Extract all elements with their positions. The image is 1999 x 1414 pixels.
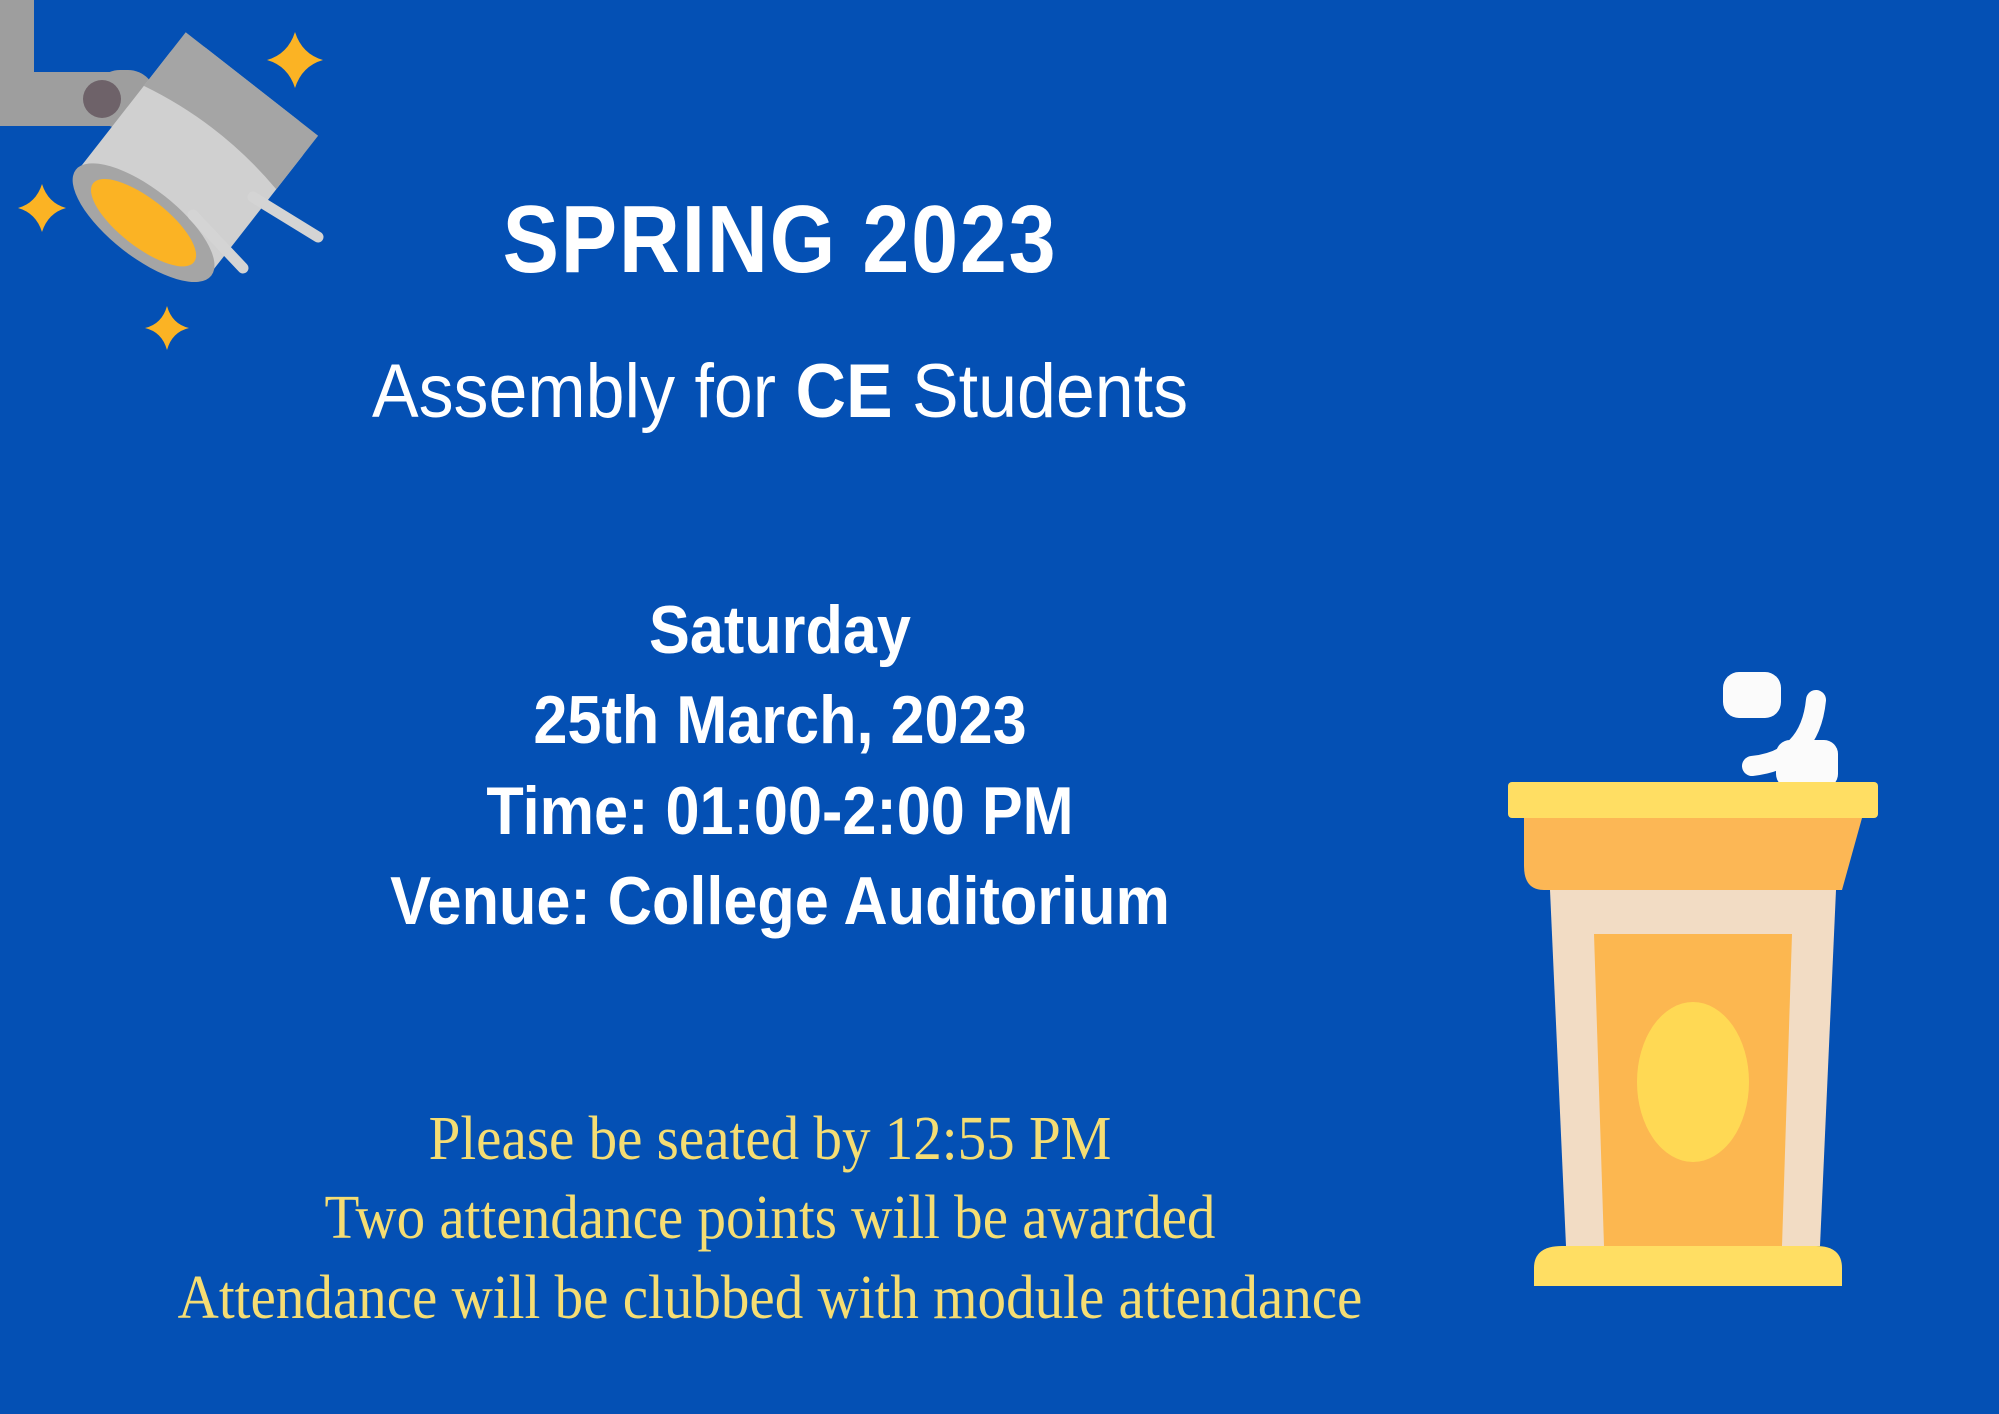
microphone-icon — [1723, 672, 1838, 788]
podium-emblem-icon — [1637, 1002, 1749, 1162]
event-day: Saturday — [78, 585, 1482, 675]
microphone-head-icon — [1723, 672, 1781, 718]
sparkle-icon — [145, 306, 189, 350]
event-venue: Venue: College Auditorium — [78, 856, 1482, 946]
note-seating: Please be seated by 12:55 PM — [62, 1100, 1479, 1179]
event-poster: SPRING 2023 Assembly for CE Students Sat… — [0, 0, 1999, 1414]
sparkle-icon — [18, 184, 66, 232]
podium-apron-icon — [1524, 818, 1862, 890]
microphone-base-icon — [1776, 740, 1838, 788]
subtitle-before: Assembly for — [372, 349, 796, 434]
event-details: Saturday 25th March, 2023 Time: 01:00-2:… — [78, 585, 1482, 947]
page-title: SPRING 2023 — [94, 190, 1467, 291]
event-notes: Please be seated by 12:55 PM Two attenda… — [62, 1100, 1479, 1338]
note-attendance: Attendance will be clubbed with module a… — [62, 1259, 1479, 1338]
podium-base-icon — [1534, 1246, 1842, 1286]
event-date: 25th March, 2023 — [78, 675, 1482, 765]
podium-icon — [1480, 580, 1999, 1370]
sparkle-icon — [267, 32, 323, 88]
spotlight-pivot-icon — [83, 80, 121, 118]
subtitle-after: Students — [893, 349, 1188, 434]
note-points: Two attendance points will be awarded — [62, 1179, 1479, 1258]
podium-illustration — [1480, 580, 1999, 1370]
subtitle-emphasis: CE — [795, 349, 892, 434]
page-subtitle: Assembly for CE Students — [62, 350, 1497, 434]
event-time: Time: 01:00-2:00 PM — [78, 766, 1482, 856]
podium-top-icon — [1508, 782, 1878, 818]
